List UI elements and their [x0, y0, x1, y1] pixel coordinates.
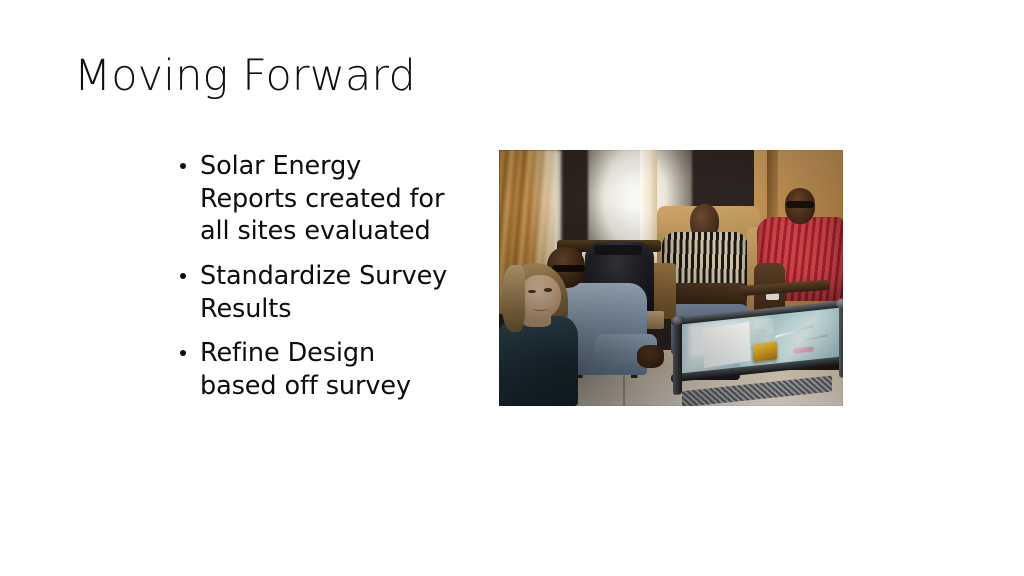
bullet-text: Standardize Survey Results	[200, 261, 447, 324]
bullet-text: Solar Energy Reports created for all sit…	[200, 151, 444, 246]
bullet-dot-icon	[180, 163, 186, 169]
slide-title: Moving Forward	[74, 52, 416, 101]
photo-scene	[499, 150, 843, 406]
bullet-text: Refine Design based off survey	[200, 338, 411, 401]
list-item: Standardize Survey Results	[176, 260, 448, 325]
woman-hair-front	[501, 265, 525, 332]
backpack-strap	[594, 245, 642, 255]
table-corner-knob	[836, 298, 843, 308]
paper-on-table	[702, 322, 750, 368]
woman-face	[520, 275, 561, 319]
list-item: Refine Design based off survey	[176, 337, 448, 402]
woman-eye-left	[528, 290, 536, 294]
bullet-dot-icon	[180, 273, 186, 279]
man-striped-shirt-arms	[664, 283, 747, 306]
gold-box	[753, 341, 776, 361]
wristwatch	[766, 293, 780, 299]
presentation-slide: Moving Forward Solar Energy Reports crea…	[0, 0, 1024, 576]
sunglasses-icon	[786, 201, 814, 208]
bullet-list: Solar Energy Reports created for all sit…	[176, 150, 448, 402]
bullet-dot-icon	[180, 350, 186, 356]
list-item: Solar Energy Reports created for all sit…	[176, 150, 448, 248]
man-light-blue-shirt-hand	[637, 345, 665, 368]
table-leg-right	[839, 301, 843, 377]
eyeglasses-icon	[552, 265, 585, 272]
table-leg-left	[673, 319, 682, 395]
woman-eye-right	[544, 288, 552, 292]
slide-photo	[499, 150, 843, 406]
